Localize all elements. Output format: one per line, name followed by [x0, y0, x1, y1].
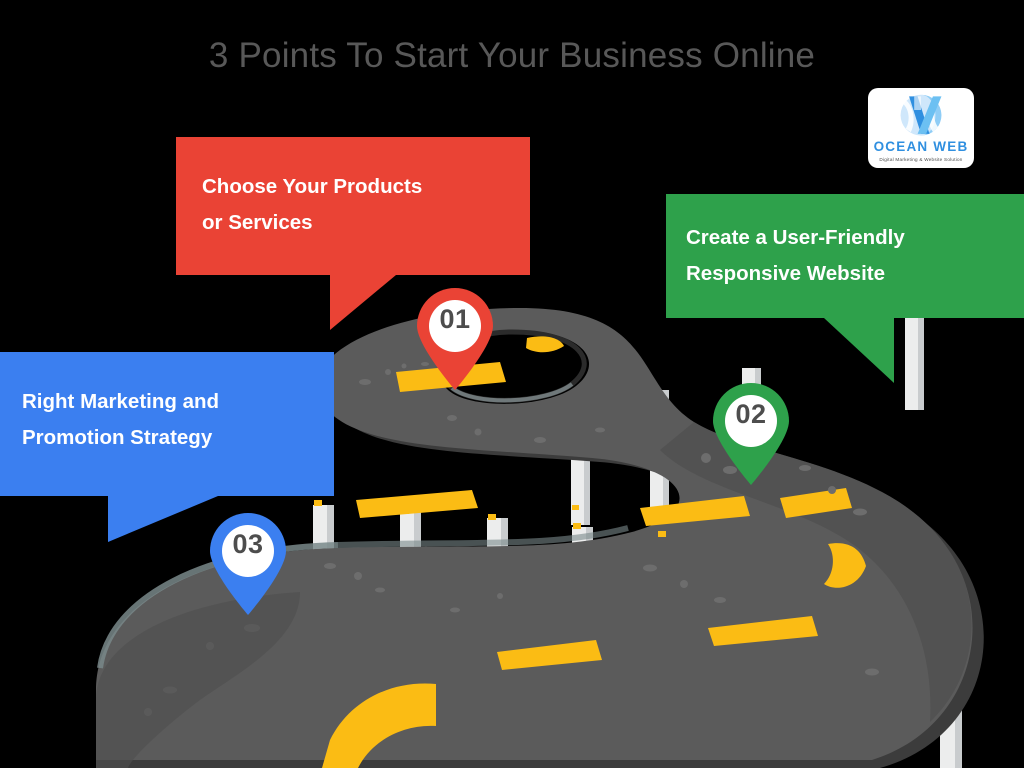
map-pin-03[interactable]: 03	[206, 513, 290, 617]
map-pin-01[interactable]: 01	[413, 288, 497, 392]
globe-w-ribbon-icon	[895, 93, 947, 139]
map-pin-03-number: 03	[206, 529, 290, 560]
map-pin-02[interactable]: 02	[709, 383, 793, 487]
callout-marketing-strategy[interactable]: Right Marketing and Promotion Strategy	[0, 352, 334, 496]
map-pin-01-number: 01	[413, 304, 497, 335]
infographic-canvas: 3 Points To Start Your Business Online O…	[0, 0, 1024, 768]
callout-3-text: Right Marketing and Promotion Strategy	[0, 352, 334, 456]
callout-1-text: Choose Your Products or Services	[176, 137, 530, 241]
callout-1-line1: Choose Your Products	[202, 169, 530, 205]
ocean-web-logo[interactable]: OCEAN WEB Digital Marketing & Website So…	[868, 88, 974, 168]
callout-2-tail	[824, 318, 894, 383]
map-pin-02-number: 02	[709, 399, 793, 430]
callout-1-tail	[330, 275, 396, 330]
logo-wordmark: OCEAN WEB	[868, 140, 974, 154]
callout-3-line2: Promotion Strategy	[22, 420, 334, 456]
callout-responsive-website[interactable]: Create a User-Friendly Responsive Websit…	[666, 194, 1024, 318]
logo-tagline: Digital Marketing & Website Solution	[868, 156, 974, 163]
callout-3-line1: Right Marketing and	[22, 384, 334, 420]
callout-2-line1: Create a User-Friendly	[686, 220, 1024, 256]
callout-choose-products[interactable]: Choose Your Products or Services	[176, 137, 530, 275]
callout-1-line2: or Services	[202, 205, 530, 241]
callout-2-text: Create a User-Friendly Responsive Websit…	[666, 194, 1024, 292]
page-title: 3 Points To Start Your Business Online	[0, 36, 1024, 76]
callout-3-tail	[108, 496, 218, 542]
callout-2-line2: Responsive Website	[686, 256, 1024, 292]
